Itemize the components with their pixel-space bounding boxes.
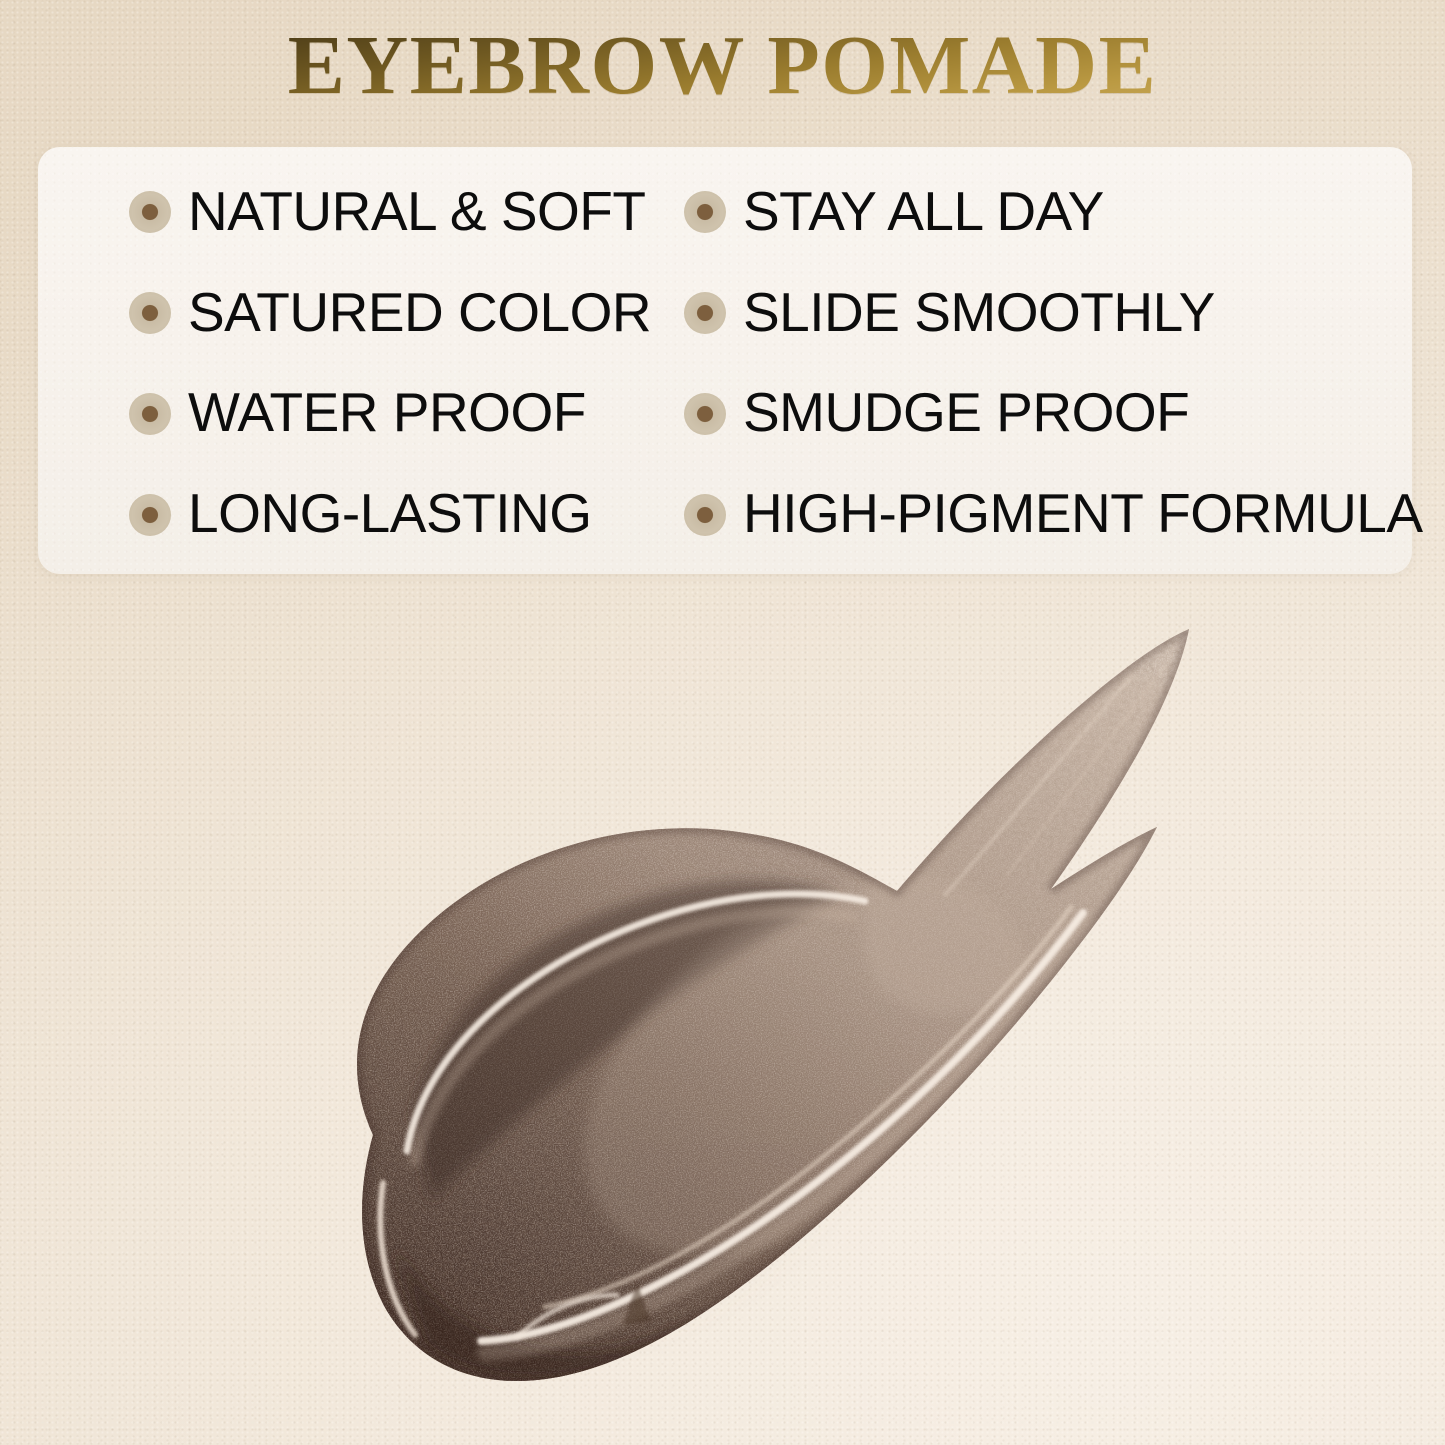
product-swatch [245,595,1265,1435]
cream-smear-swatch [245,595,1265,1435]
feature-item-water-proof: WATER PROOF [38,385,626,440]
feature-list: NATURAL & SOFT STAY ALL DAY SATURED COLO… [38,147,1412,574]
feature-label: SLIDE SMOOTHLY [743,285,1215,340]
feature-item-high-pigment-formula: HIGH-PIGMENT FORMULA [626,486,1412,541]
bullet-dot-icon [684,494,726,536]
feature-item-satured-color: SATURED COLOR [38,285,626,340]
feature-label: SATURED COLOR [188,285,651,340]
bullet-dot-icon [129,393,171,435]
feature-item-stay-all-day: STAY ALL DAY [626,184,1412,239]
bullet-dot-icon [684,292,726,334]
feature-item-slide-smoothly: SLIDE SMOOTHLY [626,285,1412,340]
bullet-dot-icon [129,191,171,233]
feature-label: SMUDGE PROOF [743,385,1189,440]
feature-card: NATURAL & SOFT STAY ALL DAY SATURED COLO… [38,147,1412,574]
feature-item-natural-soft: NATURAL & SOFT [38,184,626,239]
product-feature-graphic: EYEBROW POMADE NATURAL & SOFT STAY ALL D… [0,0,1445,1445]
feature-label: HIGH-PIGMENT FORMULA [743,486,1423,541]
feature-item-smudge-proof: SMUDGE PROOF [626,385,1412,440]
bullet-dot-icon [684,393,726,435]
feature-item-long-lasting: LONG-LASTING [38,486,626,541]
bullet-dot-icon [129,292,171,334]
feature-label: NATURAL & SOFT [188,184,646,239]
bullet-dot-icon [684,191,726,233]
feature-label: STAY ALL DAY [743,184,1104,239]
page-title: EYEBROW POMADE [0,22,1445,110]
feature-label: LONG-LASTING [188,486,592,541]
bullet-dot-icon [129,494,171,536]
feature-label: WATER PROOF [188,385,586,440]
